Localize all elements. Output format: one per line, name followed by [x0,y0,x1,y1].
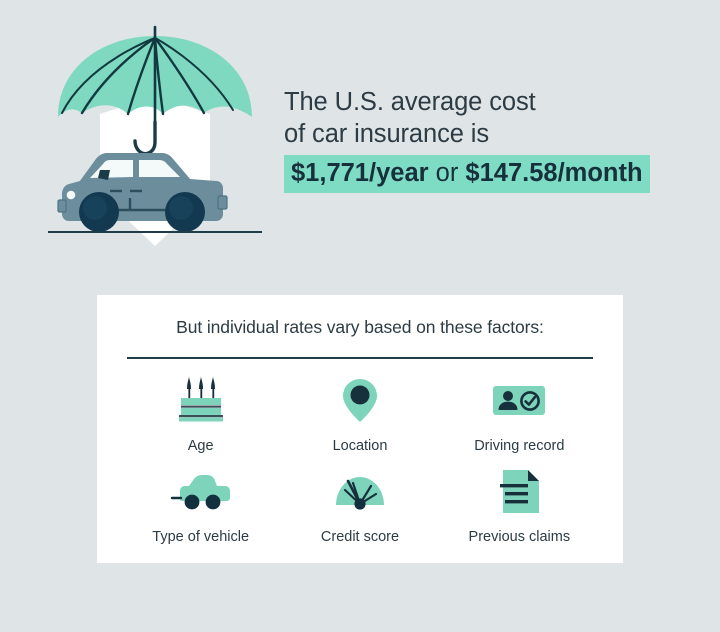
yearly-cost: $1,771/year [291,159,429,187]
hero-section: The U.S. average cost of car insurance i… [0,0,720,270]
factor-type-of-vehicle: Type of vehicle [121,464,280,555]
factor-location: Location [280,373,439,464]
factor-label: Previous claims [469,529,571,545]
factor-label: Driving record [474,438,564,454]
birthday-cake-icon [175,373,227,429]
gauge-icon [333,464,387,520]
cost-highlight-wrapper: $1,771/year or $147.58/month [284,155,650,193]
map-pin-icon [340,373,380,429]
factor-age: Age [121,373,280,464]
insurance-illustration [40,18,270,250]
page-title: But individual rates vary based on these… [97,295,623,338]
monthly-cost: $147.58/month [465,159,642,187]
factor-driving-record: Driving record [440,373,599,464]
factor-credit-score: Credit score [280,464,439,555]
factor-label: Location [333,438,388,454]
factor-label: Type of vehicle [152,529,249,545]
factors-grid: Age Location [97,359,623,571]
headline-line-1: The U.S. average cost [284,86,684,118]
id-card-check-icon [492,373,546,429]
umbrella-icon [58,27,252,154]
infographic-page: The U.S. average cost of car insurance i… [0,0,720,632]
status-badge: $1,771/year or $147.58/month [284,155,650,193]
headline: The U.S. average cost of car insurance i… [284,86,684,193]
document-icon [496,464,542,520]
headline-line-2: of car insurance is [284,118,684,150]
factors-card: But individual rates vary based on these… [97,295,623,563]
factor-label: Credit score [321,529,399,545]
factor-label: Age [188,438,214,454]
cost-conjunction: or [429,159,466,187]
factor-previous-claims: Previous claims [440,464,599,555]
car-icon [170,464,232,520]
